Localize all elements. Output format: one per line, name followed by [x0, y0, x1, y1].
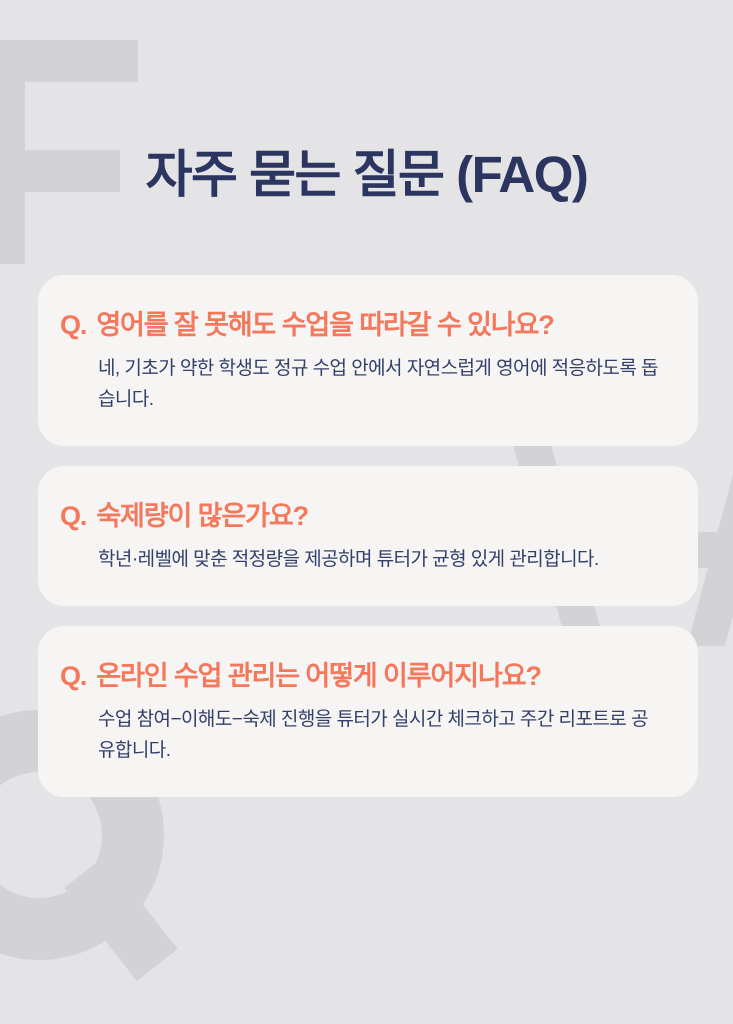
question-text: 영어를 잘 못해도 수업을 따라갈 수 있나요? — [96, 309, 553, 341]
question-marker: Q. — [60, 500, 86, 532]
faq-list: Q. 영어를 잘 못해도 수업을 따라갈 수 있나요? 네, 기초가 약한 학생… — [38, 275, 698, 797]
faq-answer-1: 네, 기초가 약한 학생도 정규 수업 안에서 자연스럽게 영어에 적응하도록 … — [98, 354, 658, 416]
page-title: 자주 묻는 질문 (FAQ) — [0, 146, 733, 205]
question-marker: Q. — [60, 660, 86, 692]
faq-item-3[interactable]: Q. 온라인 수업 관리는 어떻게 이루어지나요? 수업 참여−이해도−숙제 진… — [38, 626, 698, 797]
faq-poster: 자주 묻는 질문 (FAQ) Q. 영어를 잘 못해도 수업을 따라갈 수 있나… — [0, 0, 733, 1024]
question-text: 온라인 수업 관리는 어떻게 이루어지나요? — [96, 660, 541, 692]
letter-f-top-bar — [0, 40, 138, 82]
faq-answer-2: 학년·레벨에 맞춘 적정량을 제공하며 튜터가 균형 있게 관리합니다. — [98, 545, 658, 576]
question-text: 숙제량이 많은가요? — [96, 500, 308, 532]
question-marker: Q. — [60, 309, 86, 341]
faq-question-1: Q. 영어를 잘 못해도 수업을 따라갈 수 있나요? — [60, 309, 668, 341]
faq-item-1[interactable]: Q. 영어를 잘 못해도 수업을 따라갈 수 있나요? 네, 기초가 약한 학생… — [38, 275, 698, 446]
faq-answer-3: 수업 참여−이해도−숙제 진행을 튜터가 실시간 체크하고 주간 리포트로 공유… — [98, 705, 658, 767]
faq-item-2[interactable]: Q. 숙제량이 많은가요? 학년·레벨에 맞춘 적정량을 제공하며 튜터가 균형… — [38, 466, 698, 606]
letter-q-tail — [64, 856, 178, 981]
faq-question-3: Q. 온라인 수업 관리는 어떻게 이루어지나요? — [60, 660, 668, 692]
faq-question-2: Q. 숙제량이 많은가요? — [60, 500, 668, 532]
